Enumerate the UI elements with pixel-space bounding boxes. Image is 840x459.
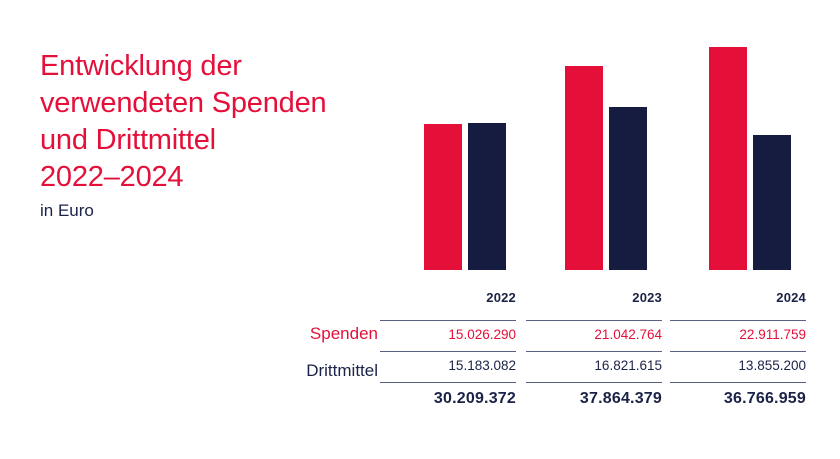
row-label-drittmittel: Drittmittel (306, 361, 378, 381)
title-block: Entwicklung der verwendeten Spenden und … (40, 48, 400, 222)
column-header-year: 2022 (486, 290, 516, 305)
infographic-chart: Entwicklung der verwendeten Spenden und … (0, 0, 840, 459)
cell-drittmittel: 16.821.615 (594, 358, 662, 373)
cell-drittmittel: 15.183.082 (448, 358, 516, 373)
chart-subtitle: in Euro (40, 200, 400, 222)
column-header-year: 2023 (632, 290, 662, 305)
row-label-spenden: Spenden (310, 324, 378, 344)
column-header-year: 2024 (776, 290, 806, 305)
cell-spenden: 15.026.290 (448, 327, 516, 342)
table-rule-top (526, 320, 662, 321)
table-rule-middle (380, 351, 516, 352)
bar-spenden-2024 (709, 47, 747, 270)
bar-group-2022 (424, 32, 508, 270)
table-rule-bottom (670, 382, 806, 383)
table-rule-middle (526, 351, 662, 352)
cell-total: 36.766.959 (724, 390, 806, 408)
cell-spenden: 21.042.764 (594, 327, 662, 342)
bar-drittmittel-2022 (468, 123, 506, 270)
bar-spenden-2023 (565, 66, 603, 270)
cell-drittmittel: 13.855.200 (738, 358, 806, 373)
table-rule-top (380, 320, 516, 321)
bar-spenden-2022 (424, 124, 462, 270)
page-title: Entwicklung der verwendeten Spenden und … (40, 48, 400, 196)
cell-total: 30.209.372 (434, 390, 516, 408)
bar-drittmittel-2023 (609, 107, 647, 270)
bar-group-2023 (565, 32, 649, 270)
table-column-2022: 2022 15.026.290 15.183.082 30.209.372 (380, 288, 516, 428)
table-rule-top (670, 320, 806, 321)
data-table: Spenden Drittmittel 2022 15.026.290 15.1… (0, 288, 840, 428)
cell-total: 37.864.379 (580, 390, 662, 408)
table-rule-bottom (526, 382, 662, 383)
table-column-2024: 2024 22.911.759 13.855.200 36.766.959 (670, 288, 806, 428)
table-column-2023: 2023 21.042.764 16.821.615 37.864.379 (526, 288, 662, 428)
cell-spenden: 22.911.759 (739, 327, 806, 342)
bar-group-2024 (709, 32, 793, 270)
table-rule-middle (670, 351, 806, 352)
table-rule-bottom (380, 382, 516, 383)
bar-chart-plot (410, 30, 820, 270)
bar-drittmittel-2024 (753, 135, 791, 270)
